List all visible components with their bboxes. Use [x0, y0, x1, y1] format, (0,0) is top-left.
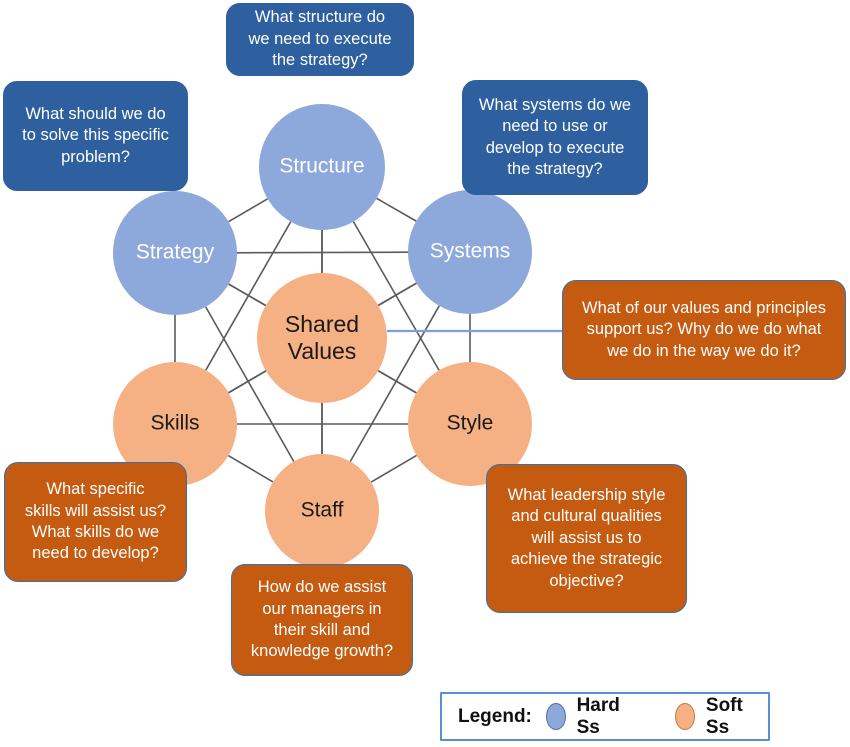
legend-label-hard: Hard Ss [577, 695, 628, 739]
callout-shared-values-question[interactable]: What of our values and principles suppor… [562, 280, 846, 380]
callout-systems-question[interactable]: What systems do we need to use or develo… [462, 80, 648, 195]
node-circle-strategy[interactable] [113, 191, 237, 315]
node-circle-staff[interactable] [265, 454, 379, 568]
legend-entry-soft: Soft Ss [675, 695, 752, 739]
callout-style-question[interactable]: What leadership style and cultural quali… [486, 464, 687, 613]
callout-strategy-question[interactable]: What should we do to solve this specific… [3, 81, 188, 191]
legend-swatch-soft-icon [675, 703, 695, 730]
callout-staff-question[interactable]: How do we assist our managers in their s… [231, 564, 413, 676]
node-circle-structure[interactable] [259, 104, 385, 230]
legend-swatch-hard-icon [546, 703, 566, 730]
diagram-canvas: StructureStrategySystemsSkillsStyleStaff… [0, 0, 850, 747]
callout-structure-question[interactable]: What structure do we need to execute the… [226, 3, 414, 76]
node-circle-systems[interactable] [408, 190, 532, 314]
legend-entry-hard: Hard Ss [546, 695, 627, 739]
node-circle-shared-values[interactable] [257, 273, 387, 403]
legend-label-soft: Soft Ss [706, 695, 752, 739]
callout-skills-question[interactable]: What specific skills will assist us? Wha… [4, 462, 187, 582]
legend-title: Legend: [458, 706, 532, 728]
legend: Legend: Hard Ss Soft Ss [440, 692, 770, 741]
